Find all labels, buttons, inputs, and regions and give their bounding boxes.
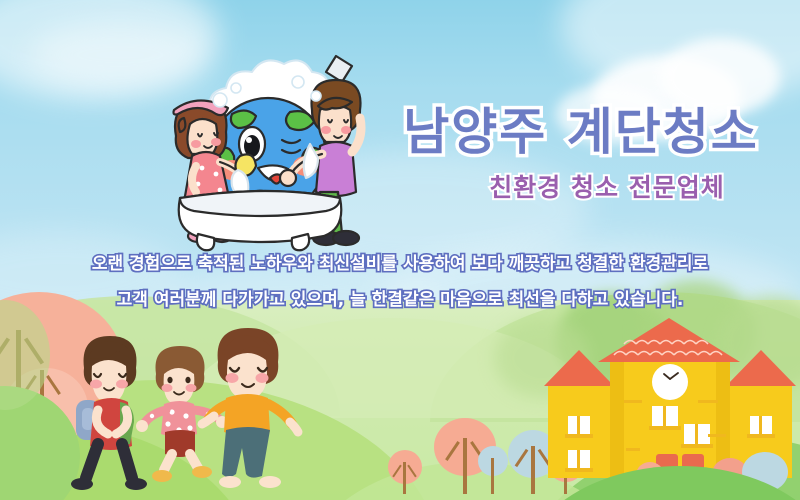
window-mullion [759,416,762,436]
wall-ledge [708,434,726,437]
school-wall-shade [610,360,624,478]
kids-scene-svg [62,318,317,500]
wall-ledge [698,400,718,403]
hero-banner: 남양주 계단청소 친환경 청소 전문업체 오랜 경험으로 축적된 노하우와 최신… [0,0,800,500]
banner-description: 오랜 경험으로 축적된 노하우와 최신설비를 사용하여 보다 깨끗하고 청결한 … [0,246,800,318]
window-sill [565,434,593,438]
bath-scene-svg [140,48,370,253]
school-building-illustration [548,322,792,482]
description-line-1: 오랜 경험으로 축적된 노하우와 최신설비를 사용하여 보다 깨끗하고 청결한 … [0,246,800,282]
banner-subtitle: 친환경 청소 전문업체 [430,168,784,204]
window-sill [565,468,593,472]
window-sill [649,426,681,430]
window-mullion [577,450,580,470]
window-mullion [695,424,698,446]
earth-bath-illustration [140,48,370,253]
banner-title: 남양주 계단청소 [378,92,784,164]
walking-children-illustration [62,318,317,500]
roof-tile-pattern [598,328,740,364]
tree-trunk [491,458,494,494]
older-girl [202,328,298,488]
tree-trunk [403,462,406,494]
wall-ledge [626,448,640,451]
wall-ledge [624,400,642,403]
description-line-2: 고객 여러분께 다가가고 있으며, 늘 한결같은 마음으로 최선을 다하고 있습… [0,282,800,318]
tree-trunk [531,446,535,494]
window-mullion [663,406,666,428]
window-sill [681,444,713,448]
tree-trunk [463,438,467,494]
school-clock [652,364,688,400]
window-sill [747,434,775,438]
window-mullion [577,416,580,436]
boy-with-backpack [71,336,147,490]
clock-hands-icon [652,364,688,400]
